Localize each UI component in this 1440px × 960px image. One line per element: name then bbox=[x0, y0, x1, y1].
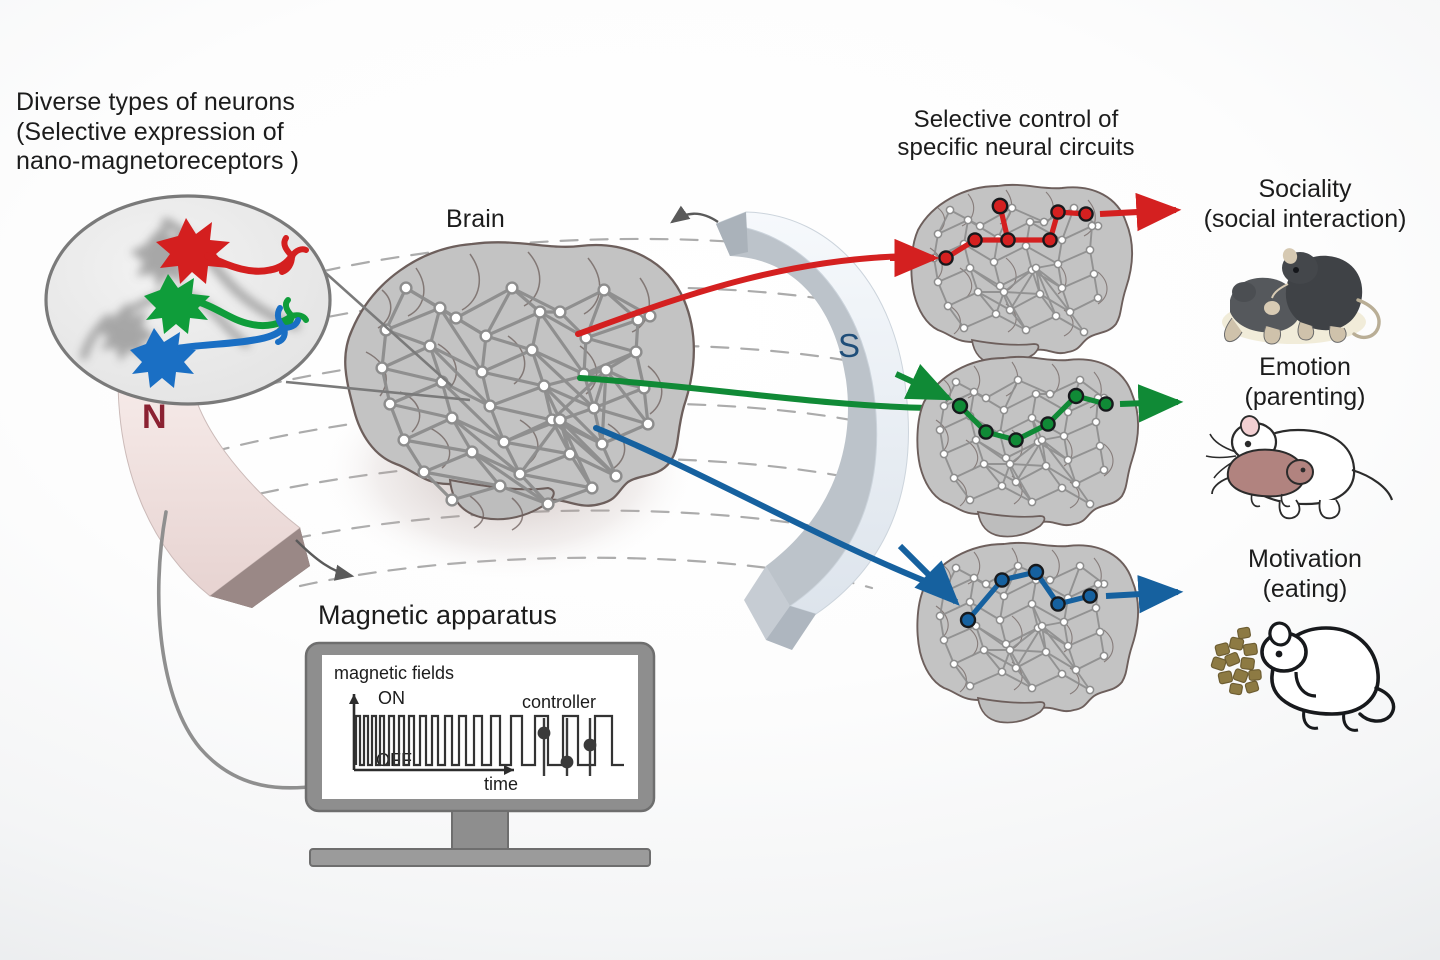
south-pole-label: S bbox=[838, 327, 860, 364]
controller-label: controller bbox=[522, 692, 596, 712]
slider-2-handle bbox=[561, 756, 574, 769]
magnet-north-pole: N bbox=[118, 368, 310, 608]
mouse-carrying-pup-icon bbox=[1206, 414, 1392, 519]
circuit-brain-sociality bbox=[890, 185, 1176, 365]
main-brain bbox=[320, 242, 700, 580]
mouse-eating-pellets-icon bbox=[1211, 621, 1394, 731]
circuit-brain-motivation bbox=[900, 543, 1178, 723]
figure-canvas: Diverse types of neurons (Selective expr… bbox=[0, 0, 1440, 960]
neuron-types-callout bbox=[46, 196, 330, 404]
slider-3-handle bbox=[584, 739, 597, 752]
axis-on-label: ON bbox=[378, 688, 405, 708]
red-output-arrow bbox=[1100, 210, 1176, 214]
circuit-brain-emotion bbox=[896, 357, 1178, 537]
slider-1-handle bbox=[538, 727, 551, 740]
diagram-artwork: N S bbox=[0, 0, 1440, 960]
blue-output-arrow bbox=[1106, 592, 1178, 596]
two-mice-interacting-icon bbox=[1222, 246, 1379, 344]
food-pellets bbox=[1211, 627, 1262, 695]
green-output-arrow bbox=[1120, 402, 1178, 404]
screen-title: magnetic fields bbox=[334, 663, 454, 683]
axis-time-label: time bbox=[484, 774, 518, 794]
magnetic-apparatus-monitor[interactable]: magnetic fields ON OFF time controller bbox=[306, 643, 654, 866]
